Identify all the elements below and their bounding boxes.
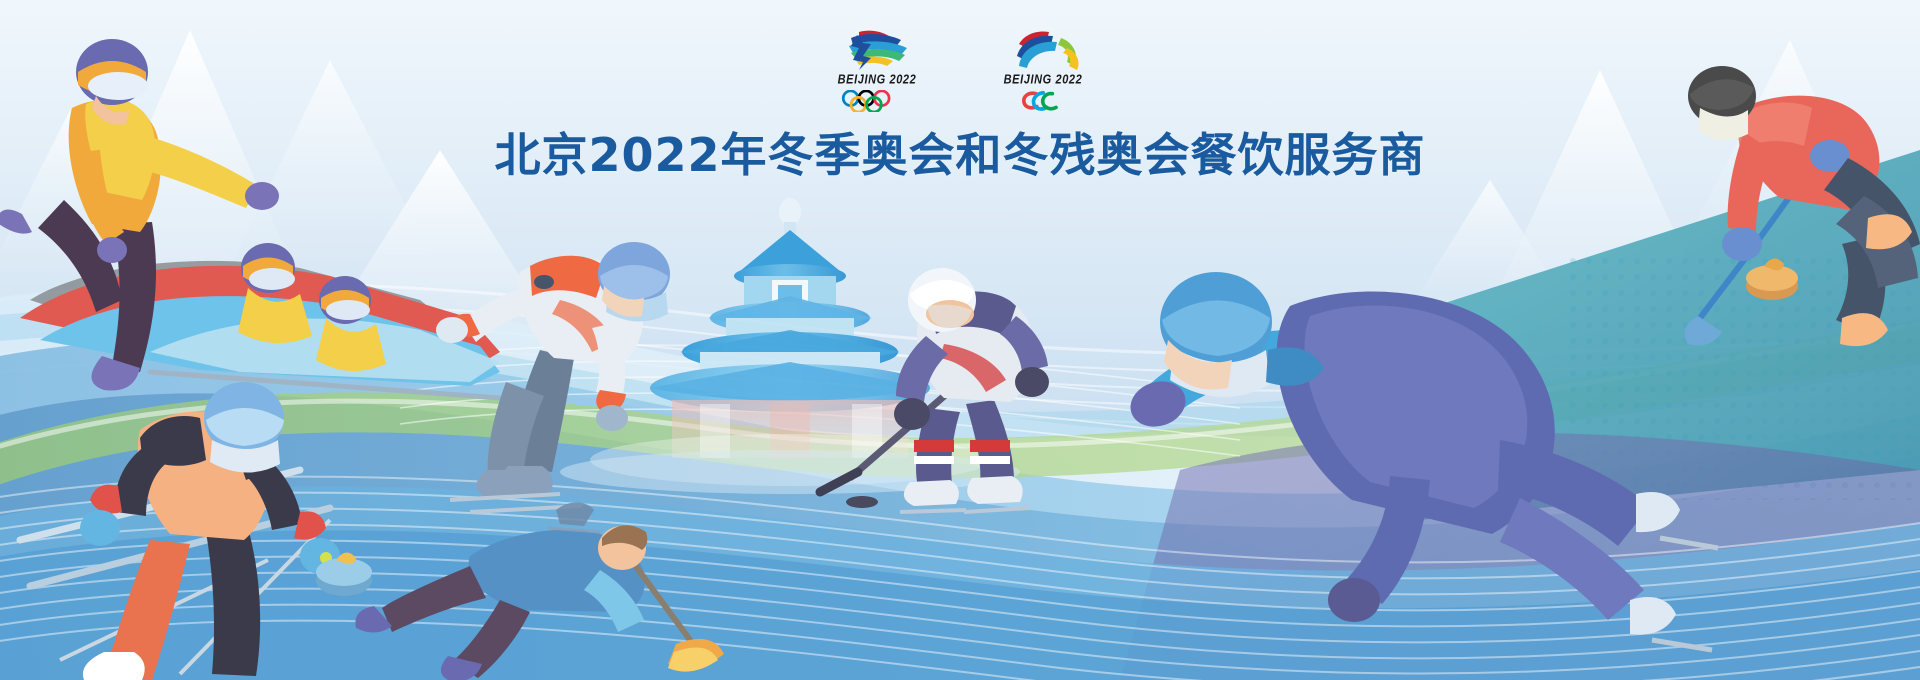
short-track-skater xyxy=(1125,272,1718,650)
olympic-rings-icon xyxy=(835,90,919,112)
agitos-icon xyxy=(1001,90,1085,112)
page-title: 北京2022年冬季奥会和冬残奥会餐饮服务商 xyxy=(0,119,1920,185)
curling-stone-right xyxy=(1746,258,1798,300)
paralympic-emblem: BEIJING 2022 xyxy=(988,26,1098,112)
paralympic-wordmark: BEIJING 2022 xyxy=(1004,74,1083,87)
olympic-emblem-mark xyxy=(829,26,925,72)
olympic-emblem: BEIJING 2022 xyxy=(822,26,932,112)
emblem-row: BEIJING 2022 BEIJING 2022 xyxy=(0,26,1920,112)
curling-sweeper xyxy=(316,525,724,680)
ice-hockey-player xyxy=(820,268,1049,512)
cross-country-skier xyxy=(20,382,340,680)
olympic-sponsor-banner: BEIJING 2022 BEIJING 2022 xyxy=(0,0,1920,680)
olympic-wordmark: BEIJING 2022 xyxy=(838,74,917,87)
paralympic-emblem-mark xyxy=(995,26,1091,72)
